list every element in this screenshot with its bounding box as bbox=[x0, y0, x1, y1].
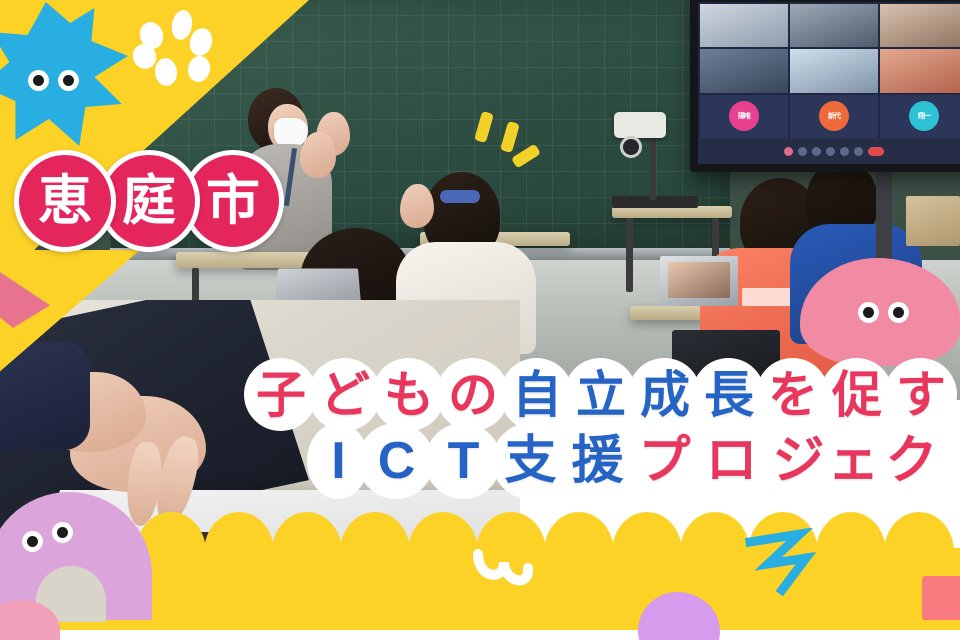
video-call-toolbar[interactable] bbox=[698, 138, 960, 164]
headline: 子 ど も の 自 立 成 長 を 促 す I C T 支 援 プ ロ ジ ェ … bbox=[0, 358, 960, 499]
video-tile-avatar[interactable]: 翔一 bbox=[880, 95, 960, 138]
eye bbox=[858, 302, 879, 323]
headline-char: を bbox=[756, 358, 829, 431]
student-laptop-2-screen bbox=[668, 262, 730, 298]
headline-line-1: 子 ど も の 自 立 成 長 を 促 す bbox=[0, 358, 960, 431]
share-screen-icon[interactable] bbox=[840, 147, 849, 156]
headline-char: も bbox=[372, 358, 445, 431]
participant-avatar: 新代 bbox=[819, 101, 849, 131]
scallop bbox=[544, 512, 614, 552]
scallop bbox=[204, 512, 274, 552]
blue-star-mascot-eyes bbox=[28, 70, 79, 91]
scallop bbox=[884, 512, 954, 552]
video-tile[interactable] bbox=[790, 4, 878, 47]
headline-char: ク bbox=[873, 423, 949, 499]
city-name-badge: 恵 庭 市 bbox=[14, 150, 266, 252]
participant-avatar: 陽唯 bbox=[729, 101, 759, 131]
video-tile-avatar[interactable]: 陽唯 bbox=[700, 95, 788, 138]
video-call-grid: 陽唯 新代 翔一 bbox=[700, 4, 960, 138]
banner-root: 陽唯 新代 翔一 bbox=[0, 0, 960, 640]
scallop bbox=[408, 512, 478, 552]
headline-char: ロ bbox=[693, 423, 769, 499]
scallop bbox=[272, 512, 342, 552]
pupil bbox=[893, 307, 904, 318]
pupil bbox=[33, 75, 44, 86]
pupil bbox=[63, 75, 74, 86]
eye bbox=[58, 70, 79, 91]
scallop bbox=[340, 512, 410, 552]
more-icon[interactable] bbox=[854, 147, 863, 156]
headline-char: T bbox=[425, 423, 501, 499]
headline-char: 子 bbox=[244, 358, 317, 431]
scallop bbox=[680, 512, 750, 552]
document-camera-lens bbox=[620, 136, 642, 158]
pink-cloud-mascot-eyes bbox=[858, 302, 909, 323]
teacher-hand-right bbox=[300, 132, 336, 178]
headline-char: ど bbox=[308, 358, 381, 431]
salmon-square-corner bbox=[922, 576, 960, 620]
microphone-icon[interactable] bbox=[784, 147, 793, 156]
city-char: 恵 bbox=[14, 150, 116, 252]
student-hairband bbox=[440, 190, 480, 203]
headline-char: ェ bbox=[827, 423, 879, 499]
scallop bbox=[476, 512, 546, 552]
video-tile[interactable] bbox=[790, 49, 878, 92]
blue-zigzag-squiggle bbox=[744, 528, 836, 596]
headline-char: 長 bbox=[692, 358, 765, 431]
headline-char: I bbox=[312, 423, 364, 499]
video-call-screen[interactable]: 陽唯 新代 翔一 bbox=[690, 0, 960, 172]
chat-icon[interactable] bbox=[826, 147, 835, 156]
pupil bbox=[27, 536, 38, 547]
headline-char: す bbox=[884, 358, 957, 431]
video-tile[interactable] bbox=[880, 49, 960, 92]
headline-char: 成 bbox=[628, 358, 701, 431]
headline-char: ト bbox=[940, 423, 960, 499]
headline-char: 自 bbox=[500, 358, 573, 431]
eye bbox=[52, 522, 73, 543]
headline-char: の bbox=[436, 358, 509, 431]
participant-avatar: 翔一 bbox=[909, 101, 939, 131]
participants-icon[interactable] bbox=[812, 147, 821, 156]
camera-icon[interactable] bbox=[798, 147, 807, 156]
eye bbox=[888, 302, 909, 323]
storage-box bbox=[906, 196, 960, 246]
video-tile-avatar[interactable]: 新代 bbox=[790, 95, 878, 138]
eye bbox=[28, 70, 49, 91]
white-wave-squiggle bbox=[470, 548, 560, 610]
headline-char: 支 bbox=[492, 423, 568, 499]
video-tile[interactable] bbox=[880, 4, 960, 47]
headline-char: 立 bbox=[564, 358, 637, 431]
headline-char: 促 bbox=[820, 358, 893, 431]
white-bottom-strip bbox=[0, 630, 960, 640]
headline-char: プ bbox=[626, 423, 702, 499]
pupil bbox=[863, 307, 874, 318]
video-tile[interactable] bbox=[700, 4, 788, 47]
headline-char: 援 bbox=[559, 423, 635, 499]
headline-char: C bbox=[358, 423, 434, 499]
purple-arch-mascot-eyes bbox=[22, 522, 73, 552]
desk-leg bbox=[626, 218, 633, 292]
pupil bbox=[57, 527, 68, 538]
headline-line-2: I C T 支 援 プ ロ ジ ェ ク ト bbox=[0, 423, 960, 499]
scallop bbox=[612, 512, 682, 552]
end-call-icon[interactable] bbox=[868, 147, 884, 156]
video-tile[interactable] bbox=[700, 49, 788, 92]
eye bbox=[22, 531, 43, 552]
document-camera-head bbox=[614, 112, 666, 138]
student-hand-raised bbox=[400, 184, 434, 228]
